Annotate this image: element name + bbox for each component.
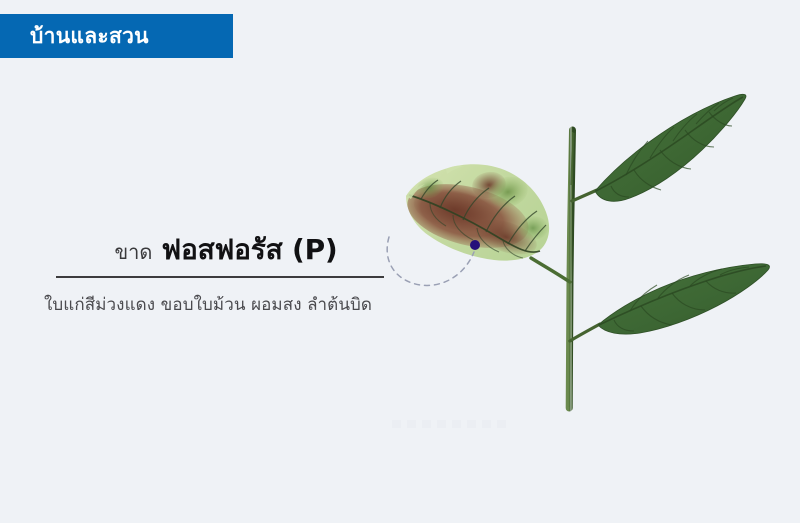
headline-prefix: ขาด xyxy=(114,236,152,268)
healthy-leaf-upper xyxy=(595,94,746,201)
plant-stem xyxy=(569,130,573,408)
healthy-leaf-lower xyxy=(598,264,769,334)
nutrient-name: ฟอสฟอรัส (P) xyxy=(161,228,337,272)
symptom-description: ใบแก่สีม่วงแดง ขอบใบม้วน ผอมสง ลำต้นบิด xyxy=(44,291,444,318)
headline-divider xyxy=(56,276,384,278)
caption-block: ขาด ฟอสฟอรัส (P) ใบแก่สีม่วงแดง ขอบใบม้ว… xyxy=(44,228,444,318)
headline-row: ขาด ฟอสฟอรัส (P) xyxy=(56,228,396,270)
callout-marker-dot xyxy=(470,240,480,250)
leaf-petioles xyxy=(531,190,600,341)
infographic-canvas: บ้านและสวน ขาด ฟอสฟอรัส (P) ใบแก่สีม่วงแ… xyxy=(0,0,800,523)
brand-banner-label: บ้านและสวน xyxy=(30,26,149,47)
watermark-strip xyxy=(392,420,512,428)
brand-banner[interactable]: บ้านและสวน xyxy=(0,14,233,58)
